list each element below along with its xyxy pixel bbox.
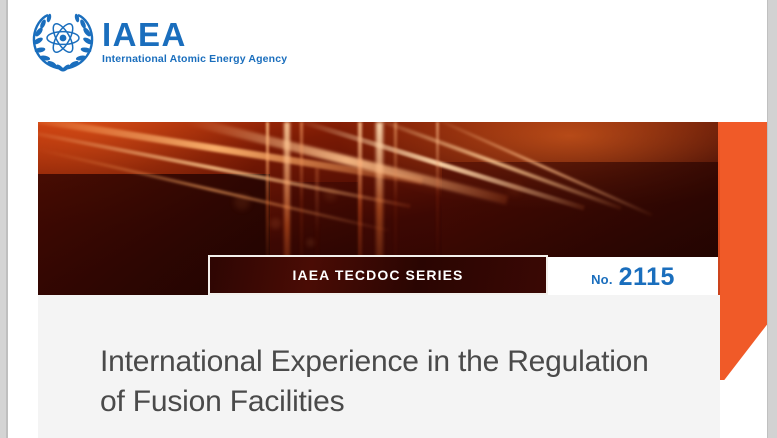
iaea-atom-laurel-logo-icon — [30, 12, 96, 72]
iaea-full-name: International Atomic Energy Agency — [102, 53, 287, 66]
document-page: IAEA International Atomic Energy Agency — [0, 0, 777, 438]
iaea-logo-text: IAEA International Atomic Energy Agency — [102, 18, 287, 66]
document-number-value: 2115 — [619, 263, 675, 292]
document-number-panel: No. 2115 — [548, 257, 718, 297]
iaea-acronym: IAEA — [102, 18, 287, 52]
tecdoc-series-banner: IAEA TECDOC SERIES — [208, 255, 548, 295]
page-scrollbar-strip[interactable] — [768, 0, 777, 438]
document-title: International Experience in the Regulati… — [100, 342, 680, 422]
hero-right-edge — [718, 122, 720, 295]
orange-ribbon-accent — [720, 122, 774, 380]
cover-body-panel: International Experience in the Regulati… — [38, 295, 720, 438]
cover-sheet: IAEA International Atomic Energy Agency — [8, 0, 768, 438]
series-label: IAEA TECDOC SERIES — [293, 267, 464, 283]
document-number-label: No. — [591, 272, 613, 287]
iaea-logo-block: IAEA International Atomic Energy Agency — [30, 12, 330, 80]
